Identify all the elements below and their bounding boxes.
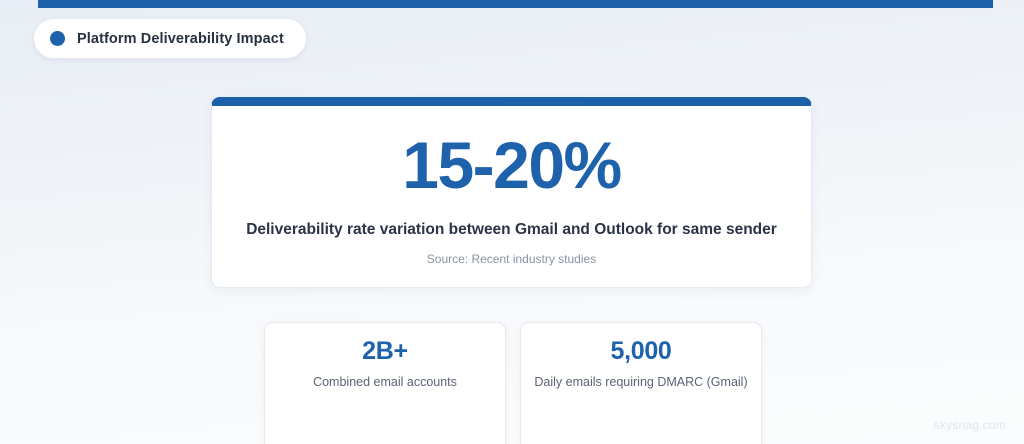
hero-value: 15-20% — [402, 132, 621, 198]
top-accent-bar — [38, 0, 993, 8]
stat-value: 2B+ — [362, 338, 408, 366]
stat-card-row: 2B+ Combined email accounts 5,000 Daily … — [264, 322, 762, 444]
section-pill-badge[interactable]: Platform Deliverability Impact — [33, 18, 307, 59]
stat-label: Daily emails requiring DMARC (Gmail) — [534, 375, 747, 389]
hero-source-note: Source: Recent industry studies — [427, 252, 596, 266]
stat-value: 5,000 — [610, 338, 671, 366]
stat-card: 2B+ Combined email accounts — [264, 322, 506, 444]
hero-stat-card: 15-20% Deliverability rate variation bet… — [211, 97, 812, 288]
filled-circle-icon — [50, 31, 65, 46]
hero-subtitle: Deliverability rate variation between Gm… — [246, 221, 777, 239]
section-pill-label: Platform Deliverability Impact — [77, 31, 284, 47]
stat-card: 5,000 Daily emails requiring DMARC (Gmai… — [520, 322, 762, 444]
watermark: skysnag.com — [934, 418, 1006, 432]
stat-label: Combined email accounts — [313, 375, 457, 389]
